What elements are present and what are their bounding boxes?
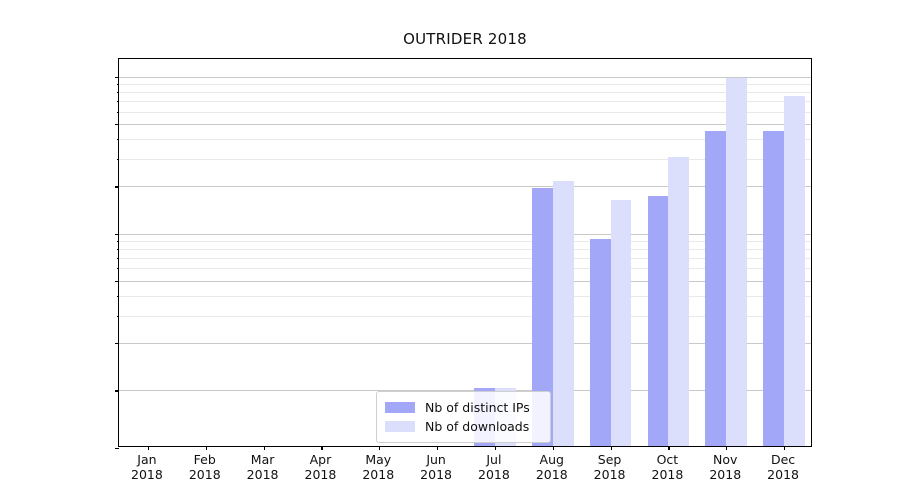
legend-label-downloads: Nb of downloads [425,419,529,434]
chart-legend: Nb of distinct IPs Nb of downloads [376,391,551,443]
x-tick-label: Jan2018 [131,452,163,482]
y-tick-mark-minor [117,241,119,242]
x-tick-mark [726,446,727,450]
x-tick-mark [264,446,265,450]
x-tick-year: 2018 [767,467,799,482]
bar-sep-ips [590,239,611,446]
x-tick-month: Jul [486,452,501,467]
x-tick-mark [784,446,785,450]
y-tick-mark-minor [117,268,119,269]
x-tick-year: 2018 [131,467,163,482]
x-tick-month: Mar [251,452,275,467]
x-tick-label: Jul2018 [478,452,510,482]
legend-swatch-downloads [385,421,415,432]
x-tick-month: Jun [426,452,446,467]
x-tick-year: 2018 [652,467,684,482]
y-tick-mark-minor [117,296,119,297]
legend-swatch-ips [385,402,415,413]
y-tick-mark-minor [117,139,119,140]
y-tick-mark-minor [117,186,119,187]
x-tick-label: Oct2018 [652,452,684,482]
bar-dec-downloads [784,96,805,446]
y-tick-mark-minor [117,84,119,85]
y-tick-mark-minor [117,92,119,93]
x-tick-month: Feb [194,452,216,467]
x-tick-year: 2018 [247,467,279,482]
y-tick-mark [115,234,119,235]
bar-sep-downloads [611,200,632,446]
bar-dec-ips [763,131,784,446]
y-tick-mark-minor [117,281,119,282]
x-tick-year: 2018 [709,467,741,482]
x-tick-label: Mar2018 [247,452,279,482]
x-tick-month: Sep [598,452,622,467]
x-tick-month: May [365,452,391,467]
x-tick-label: Dec2018 [767,452,799,482]
x-tick-mark [611,446,612,450]
x-tick-label: Sep2018 [594,452,626,482]
y-tick-mark [115,390,119,391]
x-tick-month: Nov [713,452,737,467]
bar-nov-downloads [726,78,747,446]
x-tick-mark [379,446,380,450]
x-tick-month: Dec [771,452,795,467]
x-tick-year: 2018 [189,467,221,482]
x-tick-label: May2018 [362,452,394,482]
y-tick-mark-minor [117,258,119,259]
y-tick-mark-minor [117,101,119,102]
x-tick-month: Aug [540,452,564,467]
legend-item-downloads: Nb of downloads [385,417,542,436]
bar-nov-ips [705,131,726,446]
x-tick-label: Jun2018 [420,452,452,482]
y-tick-mark-minor [117,316,119,317]
x-tick-mark [495,446,496,450]
x-tick-label: Apr2018 [305,452,337,482]
x-tick-month: Apr [310,452,332,467]
bar-aug-downloads [553,181,574,446]
x-tick-mark [321,446,322,450]
x-tick-mark [553,446,554,450]
y-tick-mark-minor [117,343,119,344]
chart-figure: OUTRIDER 2018 0125102050100 Jan2018Feb20… [0,0,900,500]
y-tick-mark-minor [117,159,119,160]
x-tick-mark [437,446,438,450]
x-tick-year: 2018 [536,467,568,482]
y-tick-mark [115,448,119,449]
x-tick-month: Oct [657,452,679,467]
x-tick-month: Jan [137,452,156,467]
x-tick-year: 2018 [305,467,337,482]
plot-area [118,58,812,447]
x-tick-mark [206,446,207,450]
x-tick-label: Aug2018 [536,452,568,482]
y-tick-mark-minor [117,124,119,125]
chart-title: OUTRIDER 2018 [118,30,812,48]
bars-layer [119,59,811,446]
x-tick-mark [668,446,669,450]
x-tick-mark [148,446,149,450]
x-tick-year: 2018 [478,467,510,482]
x-tick-year: 2018 [362,467,394,482]
x-tick-label: Feb2018 [189,452,221,482]
y-tick-mark-minor [117,112,119,113]
y-tick-mark-minor [117,249,119,250]
legend-item-ips: Nb of distinct IPs [385,398,542,417]
bar-oct-downloads [668,157,689,446]
legend-label-ips: Nb of distinct IPs [425,400,530,415]
x-tick-label: Nov2018 [709,452,741,482]
y-tick-mark [115,77,119,78]
x-tick-year: 2018 [594,467,626,482]
bar-oct-ips [648,196,669,446]
x-tick-year: 2018 [420,467,452,482]
